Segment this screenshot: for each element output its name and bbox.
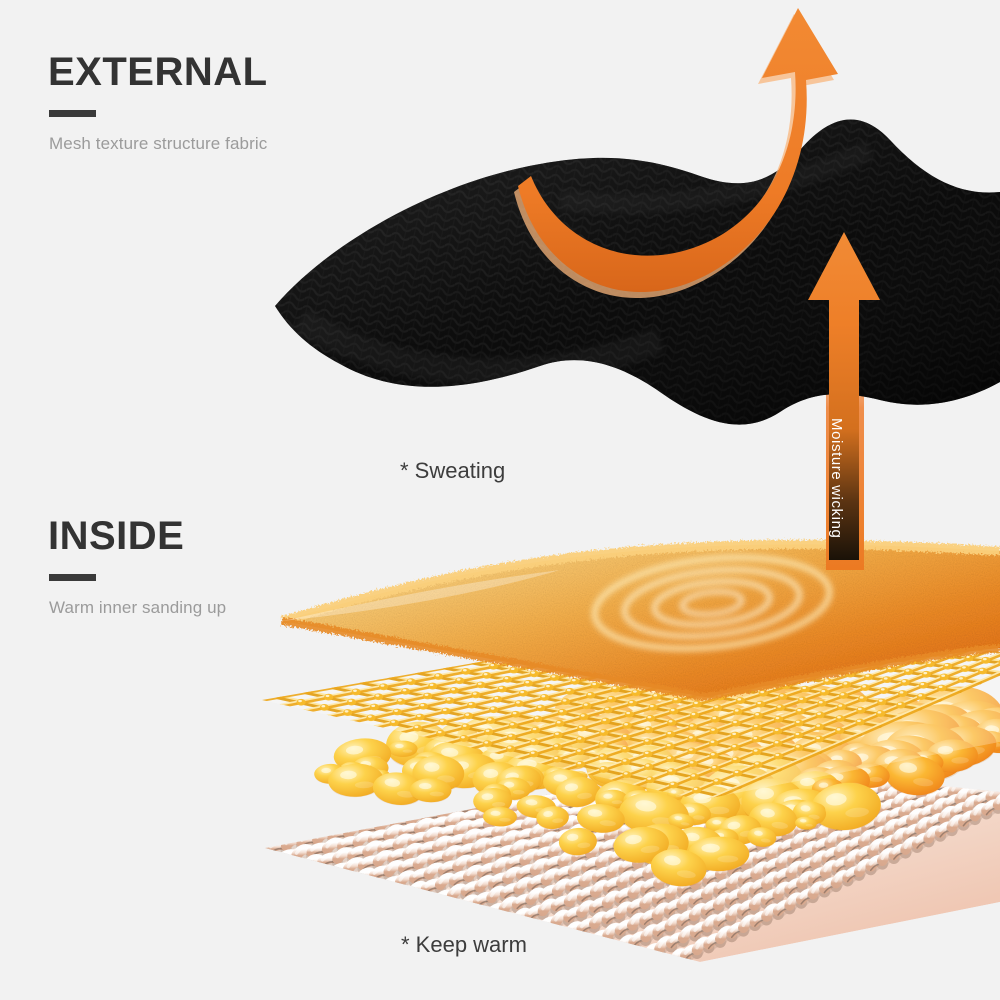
keep-warm-caption: * Keep warm bbox=[401, 932, 527, 958]
infographic-canvas: EXTERNAL Mesh texture structure fabric I… bbox=[0, 0, 1000, 1000]
external-subheading: Mesh texture structure fabric bbox=[49, 134, 268, 154]
moisture-wicking-label: Moisture wicking bbox=[828, 418, 845, 568]
external-section-label: EXTERNAL Mesh texture structure fabric bbox=[48, 52, 268, 154]
inside-subheading: Warm inner sanding up bbox=[49, 598, 226, 618]
inside-section-label: INSIDE Warm inner sanding up bbox=[48, 516, 226, 618]
inside-heading: INSIDE bbox=[48, 516, 226, 556]
external-heading: EXTERNAL bbox=[48, 52, 268, 92]
sweating-caption: * Sweating bbox=[400, 458, 505, 484]
inside-divider bbox=[49, 574, 96, 581]
external-divider bbox=[49, 110, 96, 117]
